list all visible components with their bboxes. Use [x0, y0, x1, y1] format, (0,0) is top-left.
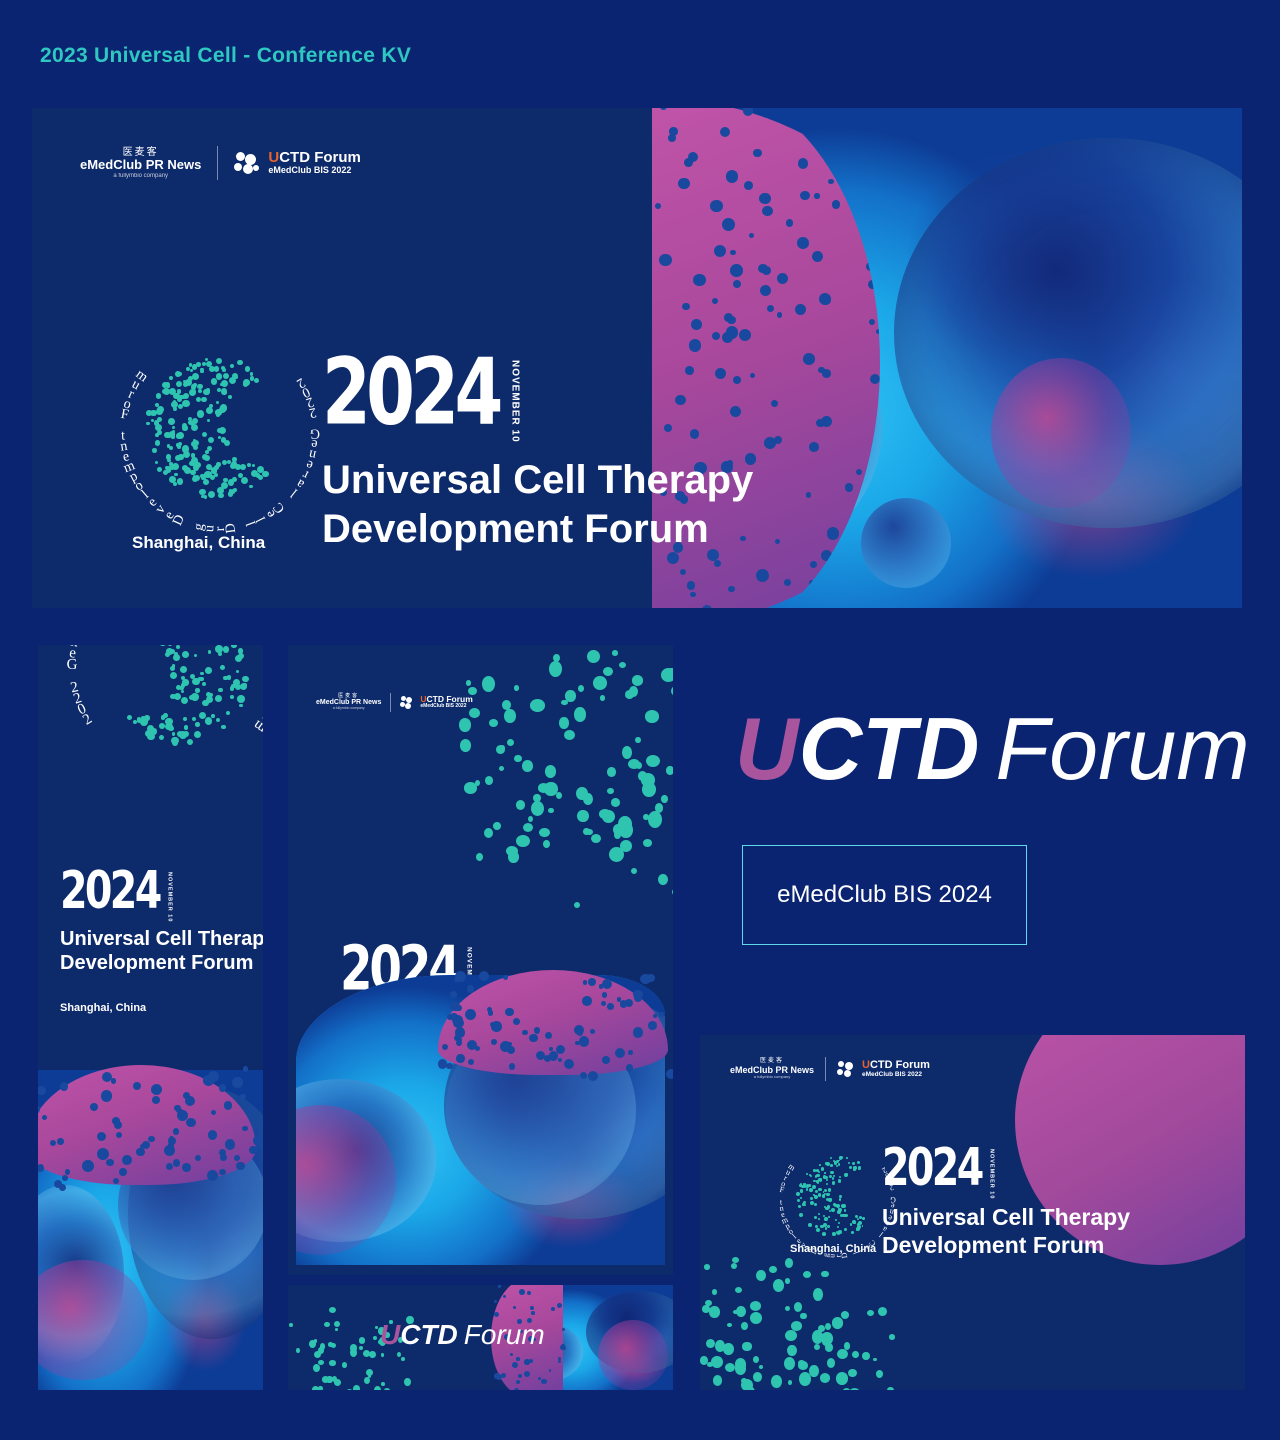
wide-lockup-divider [825, 1057, 826, 1081]
emblem-ring-text: 2022 General Cell Drug Development Forum [124, 348, 314, 518]
event-date: NOVEMBER 10 [510, 360, 521, 443]
hero-text-block: 2024 NOVEMBER 10 Universal Cell Therapy … [322, 356, 753, 554]
poster-uctd-sub: eMedClub BIS 2022 [420, 704, 472, 710]
poster-molecule-icon [400, 696, 415, 709]
emblem-city: Shanghai, China [132, 533, 265, 553]
wide-brand-tagline: a fullymbio company [730, 1075, 814, 1079]
poster-brand-tagline: a fullymbio company [316, 707, 381, 711]
strip-logo-forum: Forum [464, 1319, 545, 1350]
logo-u: U [735, 699, 799, 798]
poster-lockup-divider [390, 693, 391, 712]
vertical-city: Shanghai, China [60, 1002, 263, 1014]
vertical-date: NOVEMBER 10 [167, 872, 173, 922]
uctd-ctd: CTD Forum [279, 149, 361, 166]
uctd-forum-logo: UCTDForum [735, 705, 1250, 793]
wide-emblem-ring: 2022 General Cell Drug Development Forum [782, 1150, 892, 1250]
vertical-emblem-ring: 2022 General Cell Drug Development Forum [76, 645, 263, 755]
wide-uctd-u: U [862, 1059, 870, 1071]
wide-emblem: 2022 General Cell Drug Development Forum [782, 1150, 892, 1250]
wide-brand-cn: 医麦客 [730, 1058, 814, 1065]
vertical-headline-2: Development Forum [60, 951, 263, 975]
poster-magenta-crescent [438, 970, 668, 1075]
uctd-sub: eMedClub BIS 2022 [268, 166, 361, 176]
wide-uctd-ctd: CTD Forum [870, 1059, 930, 1071]
wide-year: 2024 [882, 1138, 982, 1198]
vertical-headline-1: Universal Cell Therapy [60, 927, 263, 951]
vertical-text-block: 2024 NOVEMBER 10 Universal Cell Therapy … [60, 870, 263, 1014]
uctd-u: U [268, 149, 279, 166]
lockup-divider [217, 146, 218, 180]
headline-line-1: Universal Cell Therapy [322, 456, 753, 505]
wide-text-block: 2024 NOVEMBER 10 Universal Cell Therapy … [882, 1147, 1130, 1259]
tag-box-label: eMedClub BIS 2024 [777, 881, 992, 909]
emedclub-tag-box[interactable]: eMedClub BIS 2024 [742, 845, 1027, 945]
wide-date: NOVEMBER 10 [989, 1149, 995, 1199]
wide-brand-lockup[interactable]: 医麦客 eMedClub PR News a fullymbio company… [730, 1057, 930, 1081]
forum-emblem: 2022 General Cell Drug Development Forum [124, 348, 314, 518]
logo-ctd: CTD [799, 699, 980, 798]
event-year: 2024 [322, 340, 499, 446]
logo-forum: Forum [995, 699, 1249, 798]
wide-teal-dots [700, 1255, 900, 1390]
vertical-crescent-dots [38, 1065, 256, 1185]
wide-uctd-sub: eMedClub BIS 2022 [862, 1071, 930, 1078]
strip-banner[interactable]: UCTDForum [288, 1285, 673, 1390]
wide-banner[interactable]: 医麦客 eMedClub PR News a fullymbio company… [700, 1035, 1245, 1390]
brand-en-name: eMedClub PR News [80, 158, 201, 173]
strip-uctd-logo: UCTDForum [380, 1321, 545, 1349]
poster[interactable]: 医麦客 eMedClub PR News a fullymbio company… [288, 645, 673, 1275]
molecule-icon [234, 152, 260, 174]
brand-lockup[interactable]: 医麦客 eMedClub PR News a fullymbio company… [80, 146, 361, 180]
vertical-emblem: 2022 General Cell Drug Development Forum [76, 645, 263, 755]
vertical-banner[interactable]: 2022 General Cell Drug Development Forum… [38, 645, 263, 1390]
vertical-magenta-crescent [38, 1065, 256, 1185]
poster-brand-lockup[interactable]: 医麦客 eMedClub PR News a fullymbio company… [316, 693, 473, 712]
poster-crescent-dots [438, 970, 668, 1075]
hero-banner[interactable]: 医麦客 eMedClub PR News a fullymbio company… [32, 108, 1242, 608]
brand-tagline: a fullymbio company [80, 173, 201, 180]
strip-logo-ctd: CTD [400, 1319, 458, 1350]
wide-molecule-icon [837, 1061, 856, 1077]
vertical-year: 2024 [60, 861, 160, 921]
page-title: 2023 Universal Cell - Conference KV [40, 44, 411, 68]
wide-headline-2: Development Forum [882, 1231, 1130, 1259]
strip-logo-u: U [380, 1319, 400, 1350]
poster-teal-dots [438, 645, 673, 905]
wide-city: Shanghai, China [790, 1243, 876, 1255]
wide-headline-1: Universal Cell Therapy [882, 1203, 1130, 1231]
headline-line-2: Development Forum [322, 505, 753, 554]
